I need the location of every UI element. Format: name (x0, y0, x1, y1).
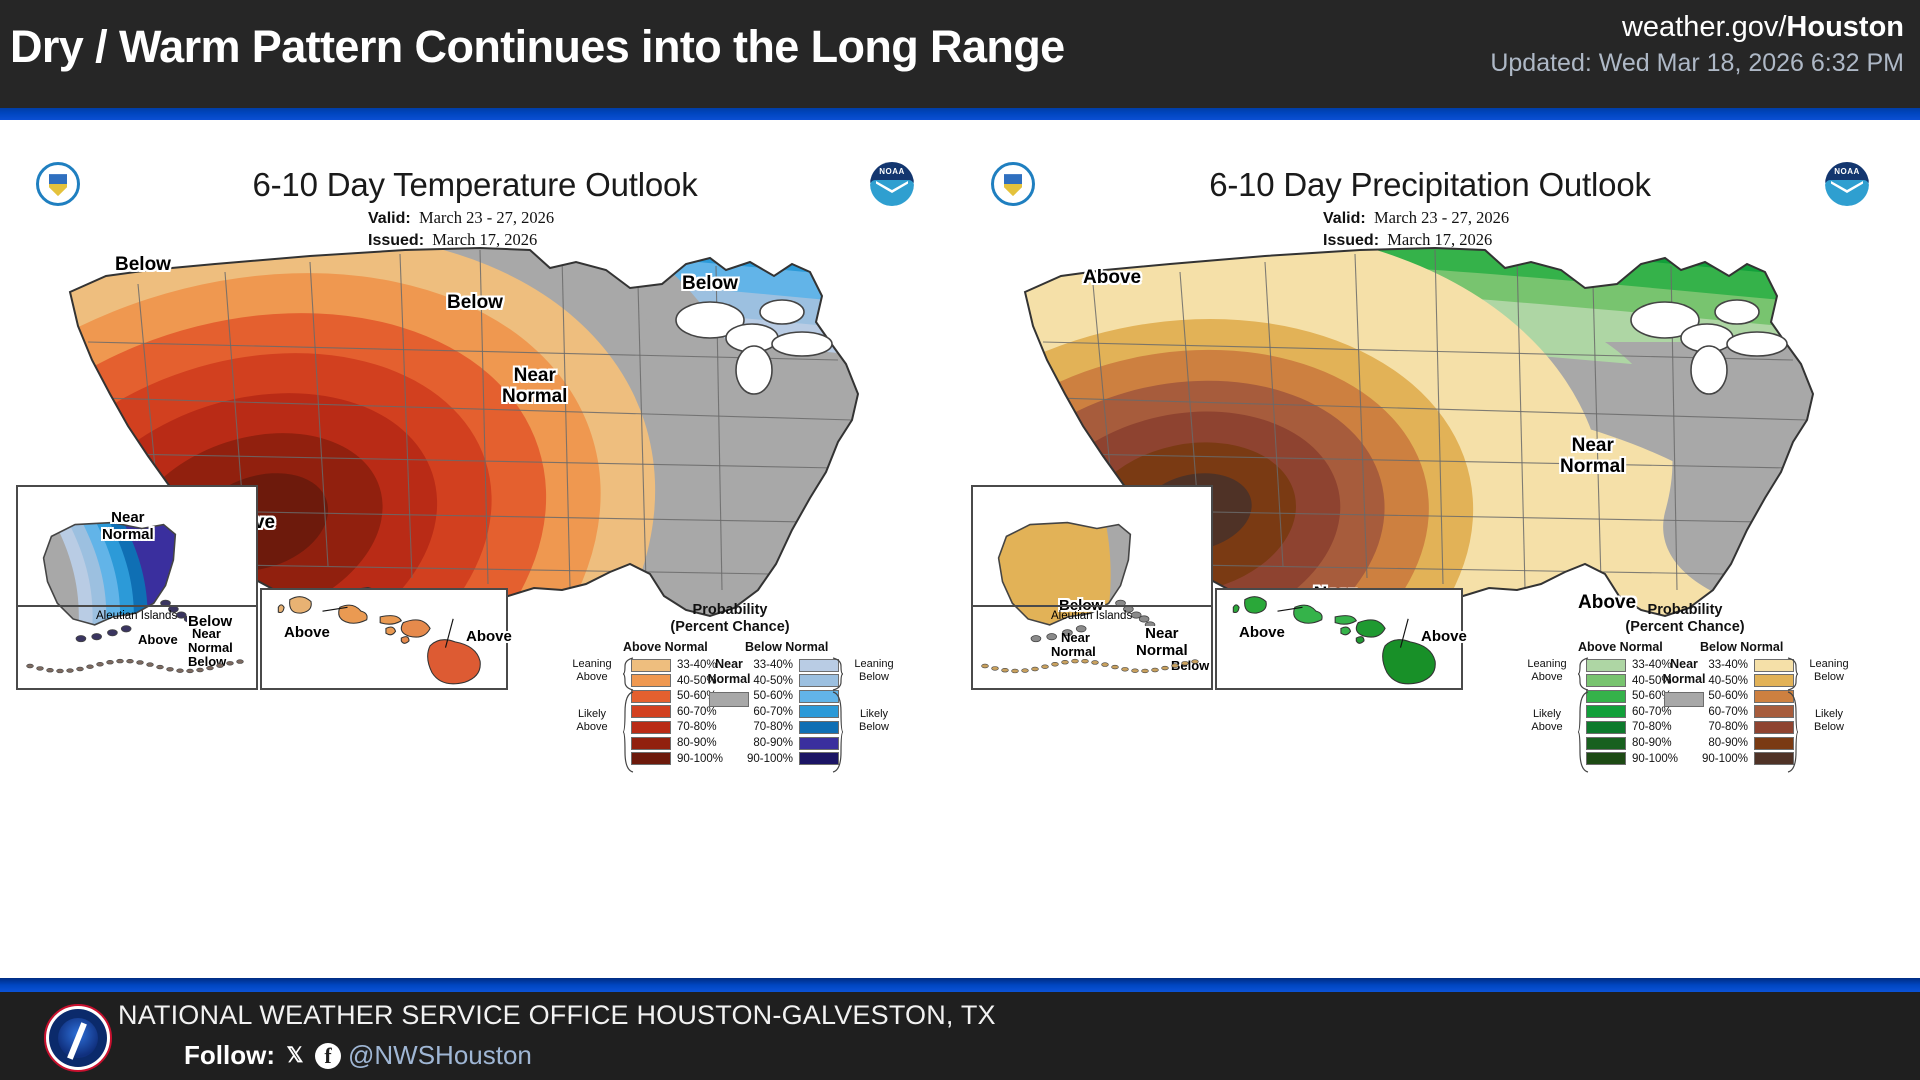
header-accent-bar (0, 108, 1920, 120)
legend-label-below-4: 70-80% (1708, 721, 1748, 733)
probability-legend: Probability(Percent Chance)Above NormalB… (1550, 602, 1820, 767)
x-twitter-icon[interactable]: 𝕏 (282, 1043, 308, 1069)
legend-swatch-above-1 (1586, 674, 1626, 687)
legend-label-above-6: 90-100% (677, 753, 723, 765)
legend-swatch-above-0 (1586, 659, 1626, 672)
legend-swatch-above-3 (631, 705, 671, 718)
map-label-precipitation-1: NearNormal (1560, 435, 1625, 477)
precipitation-outlook-panel: NOAA6-10 Day Precipitation OutlookValid:… (965, 140, 1895, 960)
aleutian-divider (16, 605, 258, 607)
legend-row-above-3: 60-70% (631, 705, 717, 719)
aleutian-islands-title: Aleutian Islands (96, 610, 177, 622)
map-label-precipitation-0: Above (1083, 267, 1141, 288)
site-url-office: Houston (1786, 11, 1904, 43)
legend-likely-above: LikelyAbove (1516, 708, 1578, 734)
legend-leaning-above: LeaningAbove (561, 658, 623, 684)
map-label-temperature-1: Below (447, 292, 503, 313)
legend-label-above-6: 90-100% (1632, 753, 1678, 765)
aleutian-islands-shapes (18, 640, 256, 680)
legend-row-below-4: 70-80% (1698, 720, 1794, 734)
legend-swatch-above-0 (631, 659, 671, 672)
legend-swatch-above-3 (1586, 705, 1626, 718)
legend-label-below-0: 33-40% (753, 659, 793, 671)
legend-row-below-1: 40-50% (743, 674, 839, 688)
legend-label-above-3: 60-70% (677, 706, 717, 718)
legend-swatch-above-2 (631, 690, 671, 703)
legend-row-below-0: 33-40% (743, 658, 839, 672)
legend-label-below-6: 90-100% (1702, 753, 1748, 765)
legend-swatch-above-4 (1586, 721, 1626, 734)
legend-above-heading: Above Normal (623, 640, 708, 654)
legend-row-above-4: 70-80% (1586, 720, 1672, 734)
legend-label-below-0: 33-40% (1708, 659, 1748, 671)
legend-swatch-above-4 (631, 721, 671, 734)
legend-near-normal-label: NearNormal (1658, 657, 1710, 687)
brace-likely-below (1786, 690, 1800, 770)
legend-label-below-2: 50-60% (753, 690, 793, 702)
legend-label-below-6: 90-100% (747, 753, 793, 765)
footer-accent-bar (0, 978, 1920, 992)
legend-row-below-6: 90-100% (1698, 752, 1794, 766)
legend-swatch-above-1 (631, 674, 671, 687)
legend-row-below-2: 50-60% (1698, 689, 1794, 703)
legend-near-normal-label: NearNormal (703, 657, 755, 687)
legend-row-above-5: 80-90% (631, 736, 717, 750)
legend-row-below-5: 80-90% (1698, 736, 1794, 750)
legend-row-above-4: 70-80% (631, 720, 717, 734)
legend-row-above-6: 90-100% (1586, 752, 1678, 766)
page-title: Dry / Warm Pattern Continues into the Lo… (10, 14, 1390, 80)
legend-likely-above: LikelyAbove (561, 708, 623, 734)
footer-follow-row: Follow: 𝕏 f @NWSHouston (184, 1040, 532, 1071)
legend-label-above-3: 60-70% (1632, 706, 1672, 718)
legend-label-above-5: 80-90% (1632, 737, 1672, 749)
probability-legend: Probability(Percent Chance)Above NormalB… (595, 602, 865, 767)
legend-row-below-6: 90-100% (743, 752, 839, 766)
legend-label-above-5: 80-90% (677, 737, 717, 749)
brace-likely-above (621, 690, 635, 770)
legend-row-above-3: 60-70% (1586, 705, 1672, 719)
site-url: weather.gov/Houston (1384, 8, 1904, 46)
updated-timestamp: Updated: Wed Mar 18, 2026 6:32 PM (1384, 46, 1904, 80)
legend-title-line1: Probability (1550, 602, 1820, 618)
legend-row-below-1: 40-50% (1698, 674, 1794, 688)
brace-likely-below (831, 690, 845, 770)
alaska-label-temperature-0: NearNormal (102, 509, 154, 543)
nws-seal-icon (44, 1004, 112, 1072)
legend-row-below-5: 80-90% (743, 736, 839, 750)
facebook-icon[interactable]: f (315, 1043, 341, 1069)
legend-above-heading: Above Normal (1578, 640, 1663, 654)
legend-likely-below: LikelyBelow (1800, 708, 1858, 734)
legend-title-line2: (Percent Chance) (595, 619, 865, 635)
legend-row-below-2: 50-60% (743, 689, 839, 703)
temperature-outlook-panel: NOAA6-10 Day Temperature OutlookValid: M… (10, 140, 940, 960)
legend-label-below-5: 80-90% (1708, 737, 1748, 749)
legend-row-above-5: 80-90% (1586, 736, 1672, 750)
legend-swatch-above-6 (631, 752, 671, 765)
hawaii-label-temperature-1: Above (466, 628, 512, 645)
legend-below-heading: Below Normal (1700, 640, 1783, 654)
legend-leaning-below: LeaningBelow (845, 658, 903, 684)
legend-below-heading: Below Normal (745, 640, 828, 654)
legend-leaning-below: LeaningBelow (1800, 658, 1858, 684)
legend-row-below-3: 60-70% (743, 705, 839, 719)
header-branding: weather.gov/Houston Updated: Wed Mar 18,… (1384, 8, 1904, 80)
legend-leaning-above: LeaningAbove (1516, 658, 1578, 684)
legend-likely-below: LikelyBelow (845, 708, 903, 734)
legend-label-above-4: 70-80% (677, 721, 717, 733)
aleutian-divider (971, 605, 1213, 607)
legend-row-above-2: 50-60% (631, 689, 717, 703)
legend-label-below-2: 50-60% (1708, 690, 1748, 702)
legend-label-below-1: 40-50% (1708, 675, 1748, 687)
map-label-temperature-3: NearNormal (502, 365, 567, 407)
aleutian-label-temperature-1: Near (192, 626, 221, 641)
page-header: Dry / Warm Pattern Continues into the Lo… (0, 0, 1920, 108)
legend-row-above-2: 50-60% (1586, 689, 1672, 703)
social-handle[interactable]: @NWSHouston (348, 1040, 532, 1071)
legend-row-below-4: 70-80% (743, 720, 839, 734)
aleutian-islands-title: Aleutian Islands (1051, 610, 1132, 622)
map-label-temperature-0: Below (115, 254, 171, 275)
site-url-prefix: weather.gov/ (1622, 11, 1786, 43)
aleutian-islands-shapes (973, 640, 1211, 680)
brace-leaning-above (1576, 656, 1590, 688)
legend-label-below-1: 40-50% (753, 675, 793, 687)
legend-label-below-4: 70-80% (753, 721, 793, 733)
legend-label-below-3: 60-70% (753, 706, 793, 718)
legend-row-below-0: 33-40% (1698, 658, 1794, 672)
footer-office-name: NATIONAL WEATHER SERVICE OFFICE HOUSTON-… (118, 1000, 996, 1031)
legend-swatch-above-6 (1586, 752, 1626, 765)
hawaii-label-precipitation-0: Above (1239, 624, 1285, 641)
follow-label: Follow: (184, 1040, 275, 1071)
hawaii-label-precipitation-1: Above (1421, 628, 1467, 645)
legend-swatch-above-2 (1586, 690, 1626, 703)
brace-leaning-below (831, 656, 845, 688)
legend-label-below-3: 60-70% (1708, 706, 1748, 718)
brace-likely-above (1576, 690, 1590, 770)
brace-leaning-below (1786, 656, 1800, 688)
legend-row-below-3: 60-70% (1698, 705, 1794, 719)
legend-title-line2: (Percent Chance) (1550, 619, 1820, 635)
legend-swatch-near-normal (709, 692, 749, 707)
hawaii-label-temperature-0: Above (284, 624, 330, 641)
legend-swatch-above-5 (1586, 737, 1626, 750)
legend-label-below-5: 80-90% (753, 737, 793, 749)
legend-swatch-near-normal (1664, 692, 1704, 707)
legend-row-above-6: 90-100% (631, 752, 723, 766)
brace-leaning-above (621, 656, 635, 688)
legend-swatch-above-5 (631, 737, 671, 750)
map-label-temperature-2: Below (682, 273, 738, 294)
legend-label-above-4: 70-80% (1632, 721, 1672, 733)
legend-title-line1: Probability (595, 602, 865, 618)
